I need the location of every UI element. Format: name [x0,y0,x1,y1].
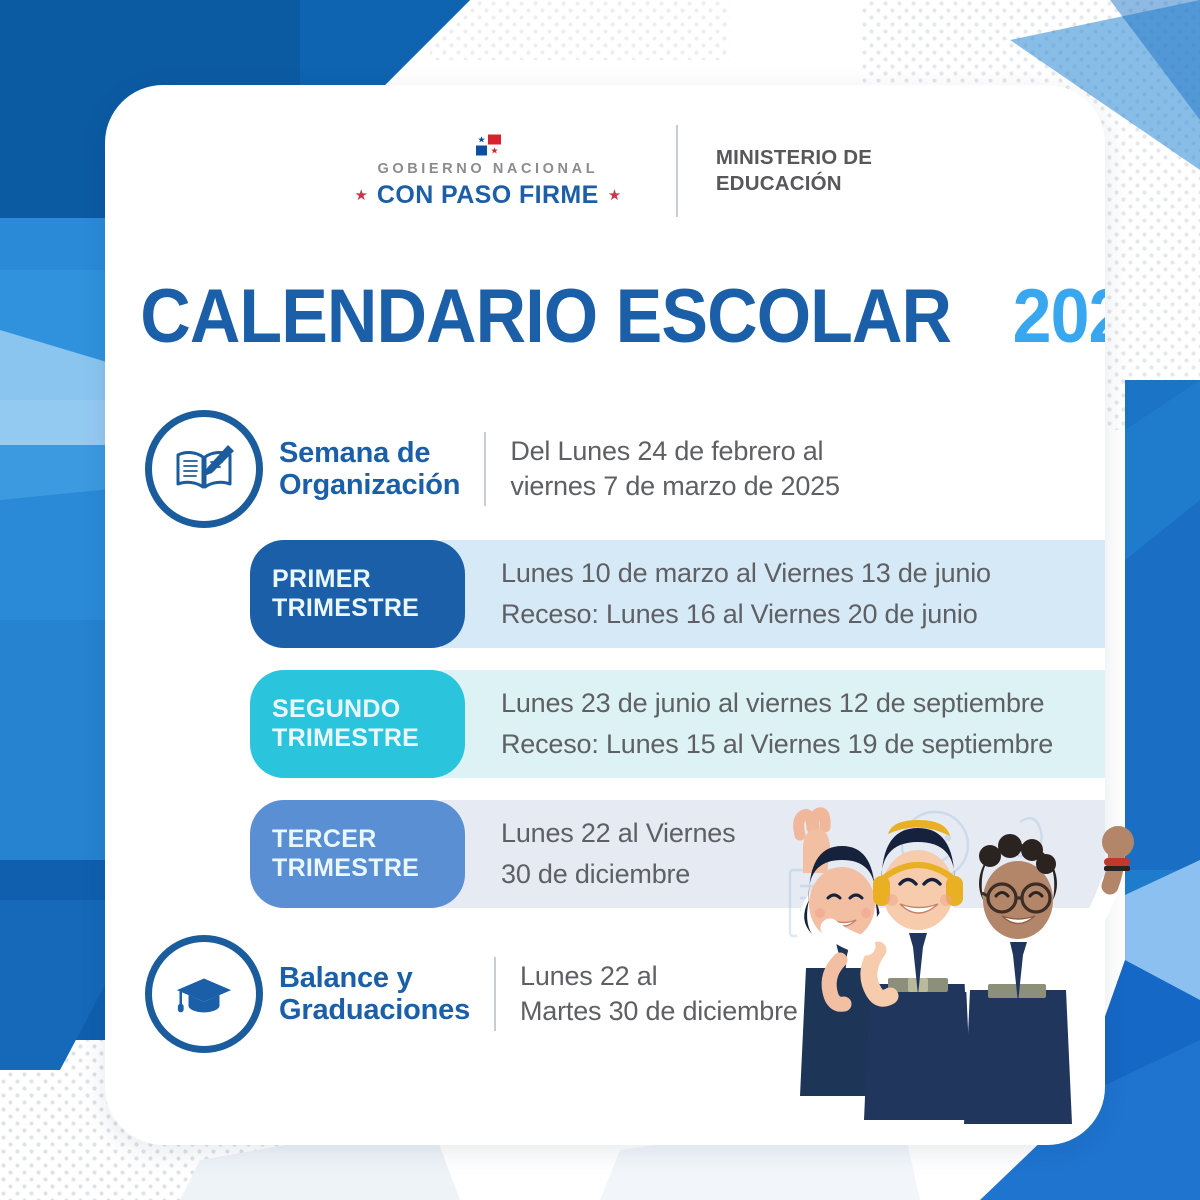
title-main: CALENDARIO ESCOLAR [140,273,951,360]
graduation-dates: Lunes 22 al Martes 30 de diciembre [520,959,798,1029]
organization-date-2: viernes 7 de marzo de 2025 [510,469,840,504]
ministry-name: MINISTERIO DE EDUCACIÓN [716,145,872,197]
trimester-primer-line1: Lunes 10 de marzo al Viernes 13 de junio [501,553,1105,594]
graduation-date-1: Lunes 22 al [520,959,798,994]
student-boy-right [964,826,1134,1124]
brand-header: GOBIERNO NACIONAL ★ CON PASO FIRME ★ MIN… [105,125,1105,217]
organization-week-row: Semana de Organización Del Lunes 24 de f… [145,410,840,528]
trimester-pill-tercer-line1: TERCER [272,825,465,855]
gov-tagline-text: CON PASO FIRME [377,182,599,210]
header-divider [676,125,678,217]
graduation-cap-icon [145,935,263,1053]
graduation-divider [494,957,496,1031]
graduation-label-1: Balance y [279,962,470,994]
organization-divider [484,432,486,506]
book-pencil-icon [145,410,263,528]
graduation-row: Balance y Graduaciones Lunes 22 al Marte… [145,935,798,1053]
organization-label-2: Organización [279,469,460,501]
organization-dates: Del Lunes 24 de febrero al viernes 7 de … [510,434,840,504]
organization-label: Semana de Organización [279,437,460,502]
title-year: 2025 [1013,273,1105,360]
poster-canvas: GOBIERNO NACIONAL ★ CON PASO FIRME ★ MIN… [0,0,1200,1200]
trimester-primer-line2: Receso: Lunes 16 al Viernes 20 de junio [501,594,1105,635]
trimester-row-primer[interactable]: PRIMER TRIMESTRE Lunes 10 de marzo al Vi… [250,540,1105,648]
trimester-pill-segundo-line1: SEGUNDO [272,695,465,725]
trimester-segundo-line2: Receso: Lunes 15 al Viernes 19 de septie… [501,724,1105,765]
star-right-icon: ★ [608,188,621,203]
trimester-row-segundo[interactable]: SEGUNDO TRIMESTRE Lunes 23 de junio al v… [250,670,1105,778]
trimester-body-primer: Lunes 10 de marzo al Viernes 13 de junio… [441,540,1105,648]
gov-tagline-main: ★ CON PASO FIRME ★ [354,182,621,210]
trimester-segundo-line1: Lunes 23 de junio al viernes 12 de septi… [501,683,1105,724]
government-logo: GOBIERNO NACIONAL ★ CON PASO FIRME ★ [338,133,638,209]
graduation-date-2: Martes 30 de diciembre [520,994,798,1029]
panama-flag-icon [466,133,510,159]
ministry-line-2: EDUCACIÓN [716,171,872,197]
trimester-body-segundo: Lunes 23 de junio al viernes 12 de septi… [441,670,1105,778]
trimester-pill-primer-line1: PRIMER [272,565,465,595]
trimester-pill-segundo: SEGUNDO TRIMESTRE [250,670,465,778]
ministry-line-1: MINISTERIO DE [716,145,872,171]
trimester-pill-segundo-line2: TRIMESTRE [272,724,465,754]
students-illustration [770,800,1200,1200]
star-left-icon: ★ [354,188,367,203]
page-title: CALENDARIO ESCOLAR 2025 [105,273,1105,360]
trimester-pill-tercer-line2: TRIMESTRE [272,854,465,884]
trimester-pill-primer-line2: TRIMESTRE [272,594,465,624]
gov-tagline-top: GOBIERNO NACIONAL [377,162,598,178]
organization-label-1: Semana de [279,437,460,469]
graduation-label: Balance y Graduaciones [279,962,470,1027]
trimester-pill-primer: PRIMER TRIMESTRE [250,540,465,648]
graduation-label-2: Graduaciones [279,994,470,1026]
trimester-pill-tercer: TERCER TRIMESTRE [250,800,465,908]
organization-date-1: Del Lunes 24 de febrero al [510,434,840,469]
